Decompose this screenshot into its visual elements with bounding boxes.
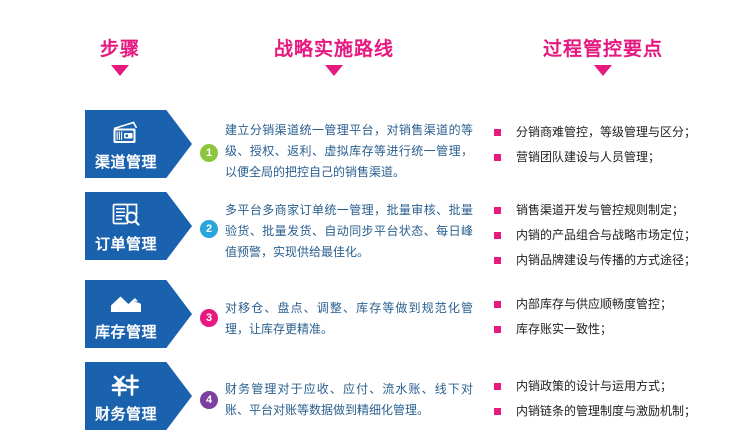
square-bullet-icon	[494, 257, 501, 264]
square-bullet-icon	[494, 232, 501, 239]
triangle-down-icon	[325, 65, 343, 76]
step-number-badge: 3	[200, 309, 218, 327]
strategy-description: 财务管理对于应收、应付、流水账、线下对账、平台对账等数据做到精细化管理。	[225, 379, 473, 421]
control-point-item: 营销团队建设与人员管理；	[494, 145, 740, 170]
square-bullet-icon	[494, 301, 501, 308]
control-point-text: 内销政策的设计与运用方式；	[516, 379, 672, 393]
step-label: 库存管理	[85, 321, 167, 342]
step-chip-channel[interactable]: 渠道管理	[85, 110, 192, 178]
control-point-item: 库存账实一致性；	[494, 317, 740, 342]
column-headers: 步骤 战略实施路线 过程管控要点	[0, 38, 750, 94]
control-point-item: 分销商难管控，等级管理与区分；	[494, 120, 740, 145]
document-search-icon	[85, 198, 167, 232]
step-label: 渠道管理	[85, 151, 167, 172]
strategy-row: 财务管理 4 财务管理对于应收、应付、流水账、线下对账、平台对账等数据做到精细化…	[0, 362, 750, 438]
step-number-badge: 4	[200, 391, 218, 409]
control-point-item: 销售渠道开发与管控规则制定；	[494, 198, 740, 223]
column-header-route-label: 战略实施路线	[234, 38, 434, 62]
column-header-steps-label: 步骤	[20, 38, 220, 62]
step-chip-inventory[interactable]: 库存管理	[85, 280, 192, 348]
step-label: 订单管理	[85, 233, 167, 254]
control-points-list: 内部库存与供应顺畅度管控； 库存账实一致性；	[494, 292, 740, 342]
column-header-route: 战略实施路线	[234, 38, 434, 76]
control-point-text: 内销品牌建设与传播的方式途径；	[516, 253, 696, 267]
control-points-list: 销售渠道开发与管控规则制定； 内销的产品组合与战略市场定位； 内销品牌建设与传播…	[494, 198, 740, 273]
square-bullet-icon	[494, 154, 501, 161]
warehouse-icon	[85, 286, 167, 320]
step-number-badge: 1	[200, 144, 218, 162]
control-points-list: 内销政策的设计与运用方式； 内销链条的管理制度与激励机制；	[494, 374, 740, 424]
column-header-control: 过程管控要点	[503, 38, 703, 76]
column-header-control-label: 过程管控要点	[503, 38, 703, 62]
control-point-item: 内销链条的管理制度与激励机制；	[494, 399, 740, 424]
strategy-description: 对移仓、盘点、调整、库存等做到规范化管理，让库存更精准。	[225, 298, 473, 340]
control-point-item: 内部库存与供应顺畅度管控；	[494, 292, 740, 317]
strategy-row: 渠道管理 1 建立分销渠道统一管理平台，对销售渠道的等级、授权、返利、虚拟库存等…	[0, 110, 750, 186]
control-point-text: 分销商难管控，等级管理与区分；	[516, 125, 696, 139]
control-point-item: 内销品牌建设与传播的方式途径；	[494, 248, 740, 273]
step-chip-order[interactable]: 订单管理	[85, 192, 192, 260]
yuan-currency-icon	[85, 368, 167, 402]
strategy-description: 建立分销渠道统一管理平台，对销售渠道的等级、授权、返利、虚拟库存等进行统一管理，…	[225, 120, 473, 183]
square-bullet-icon	[494, 207, 501, 214]
square-bullet-icon	[494, 129, 501, 136]
square-bullet-icon	[494, 383, 501, 390]
control-point-text: 库存账实一致性；	[516, 322, 612, 336]
step-number-badge: 2	[200, 220, 218, 238]
step-chip-finance[interactable]: 财务管理	[85, 362, 192, 430]
control-point-text: 营销团队建设与人员管理；	[516, 150, 660, 164]
control-point-text: 内销的产品组合与战略市场定位；	[516, 228, 696, 242]
strategy-description: 多平台多商家订单统一管理，批量审核、批量验货、批量发货、自动同步平台状态、每日峰…	[225, 200, 473, 263]
control-point-item: 内销的产品组合与战略市场定位；	[494, 223, 740, 248]
wallet-icon	[85, 116, 167, 150]
square-bullet-icon	[494, 326, 501, 333]
control-point-text: 内销链条的管理制度与激励机制；	[516, 404, 696, 418]
step-label: 财务管理	[85, 403, 167, 424]
square-bullet-icon	[494, 408, 501, 415]
control-point-text: 内部库存与供应顺畅度管控；	[516, 297, 672, 311]
control-point-text: 销售渠道开发与管控规则制定；	[516, 203, 684, 217]
triangle-down-icon	[594, 65, 612, 76]
control-point-item: 内销政策的设计与运用方式；	[494, 374, 740, 399]
strategy-row: 订单管理 2 多平台多商家订单统一管理，批量审核、批量验货、批量发货、自动同步平…	[0, 192, 750, 268]
triangle-down-icon	[111, 65, 129, 76]
strategy-infographic: 步骤 战略实施路线 过程管控要点	[0, 0, 750, 445]
strategy-row: 库存管理 3 对移仓、盘点、调整、库存等做到规范化管理，让库存更精准。 内部库存…	[0, 280, 750, 356]
column-header-steps: 步骤	[20, 38, 220, 76]
control-points-list: 分销商难管控，等级管理与区分； 营销团队建设与人员管理；	[494, 120, 740, 170]
